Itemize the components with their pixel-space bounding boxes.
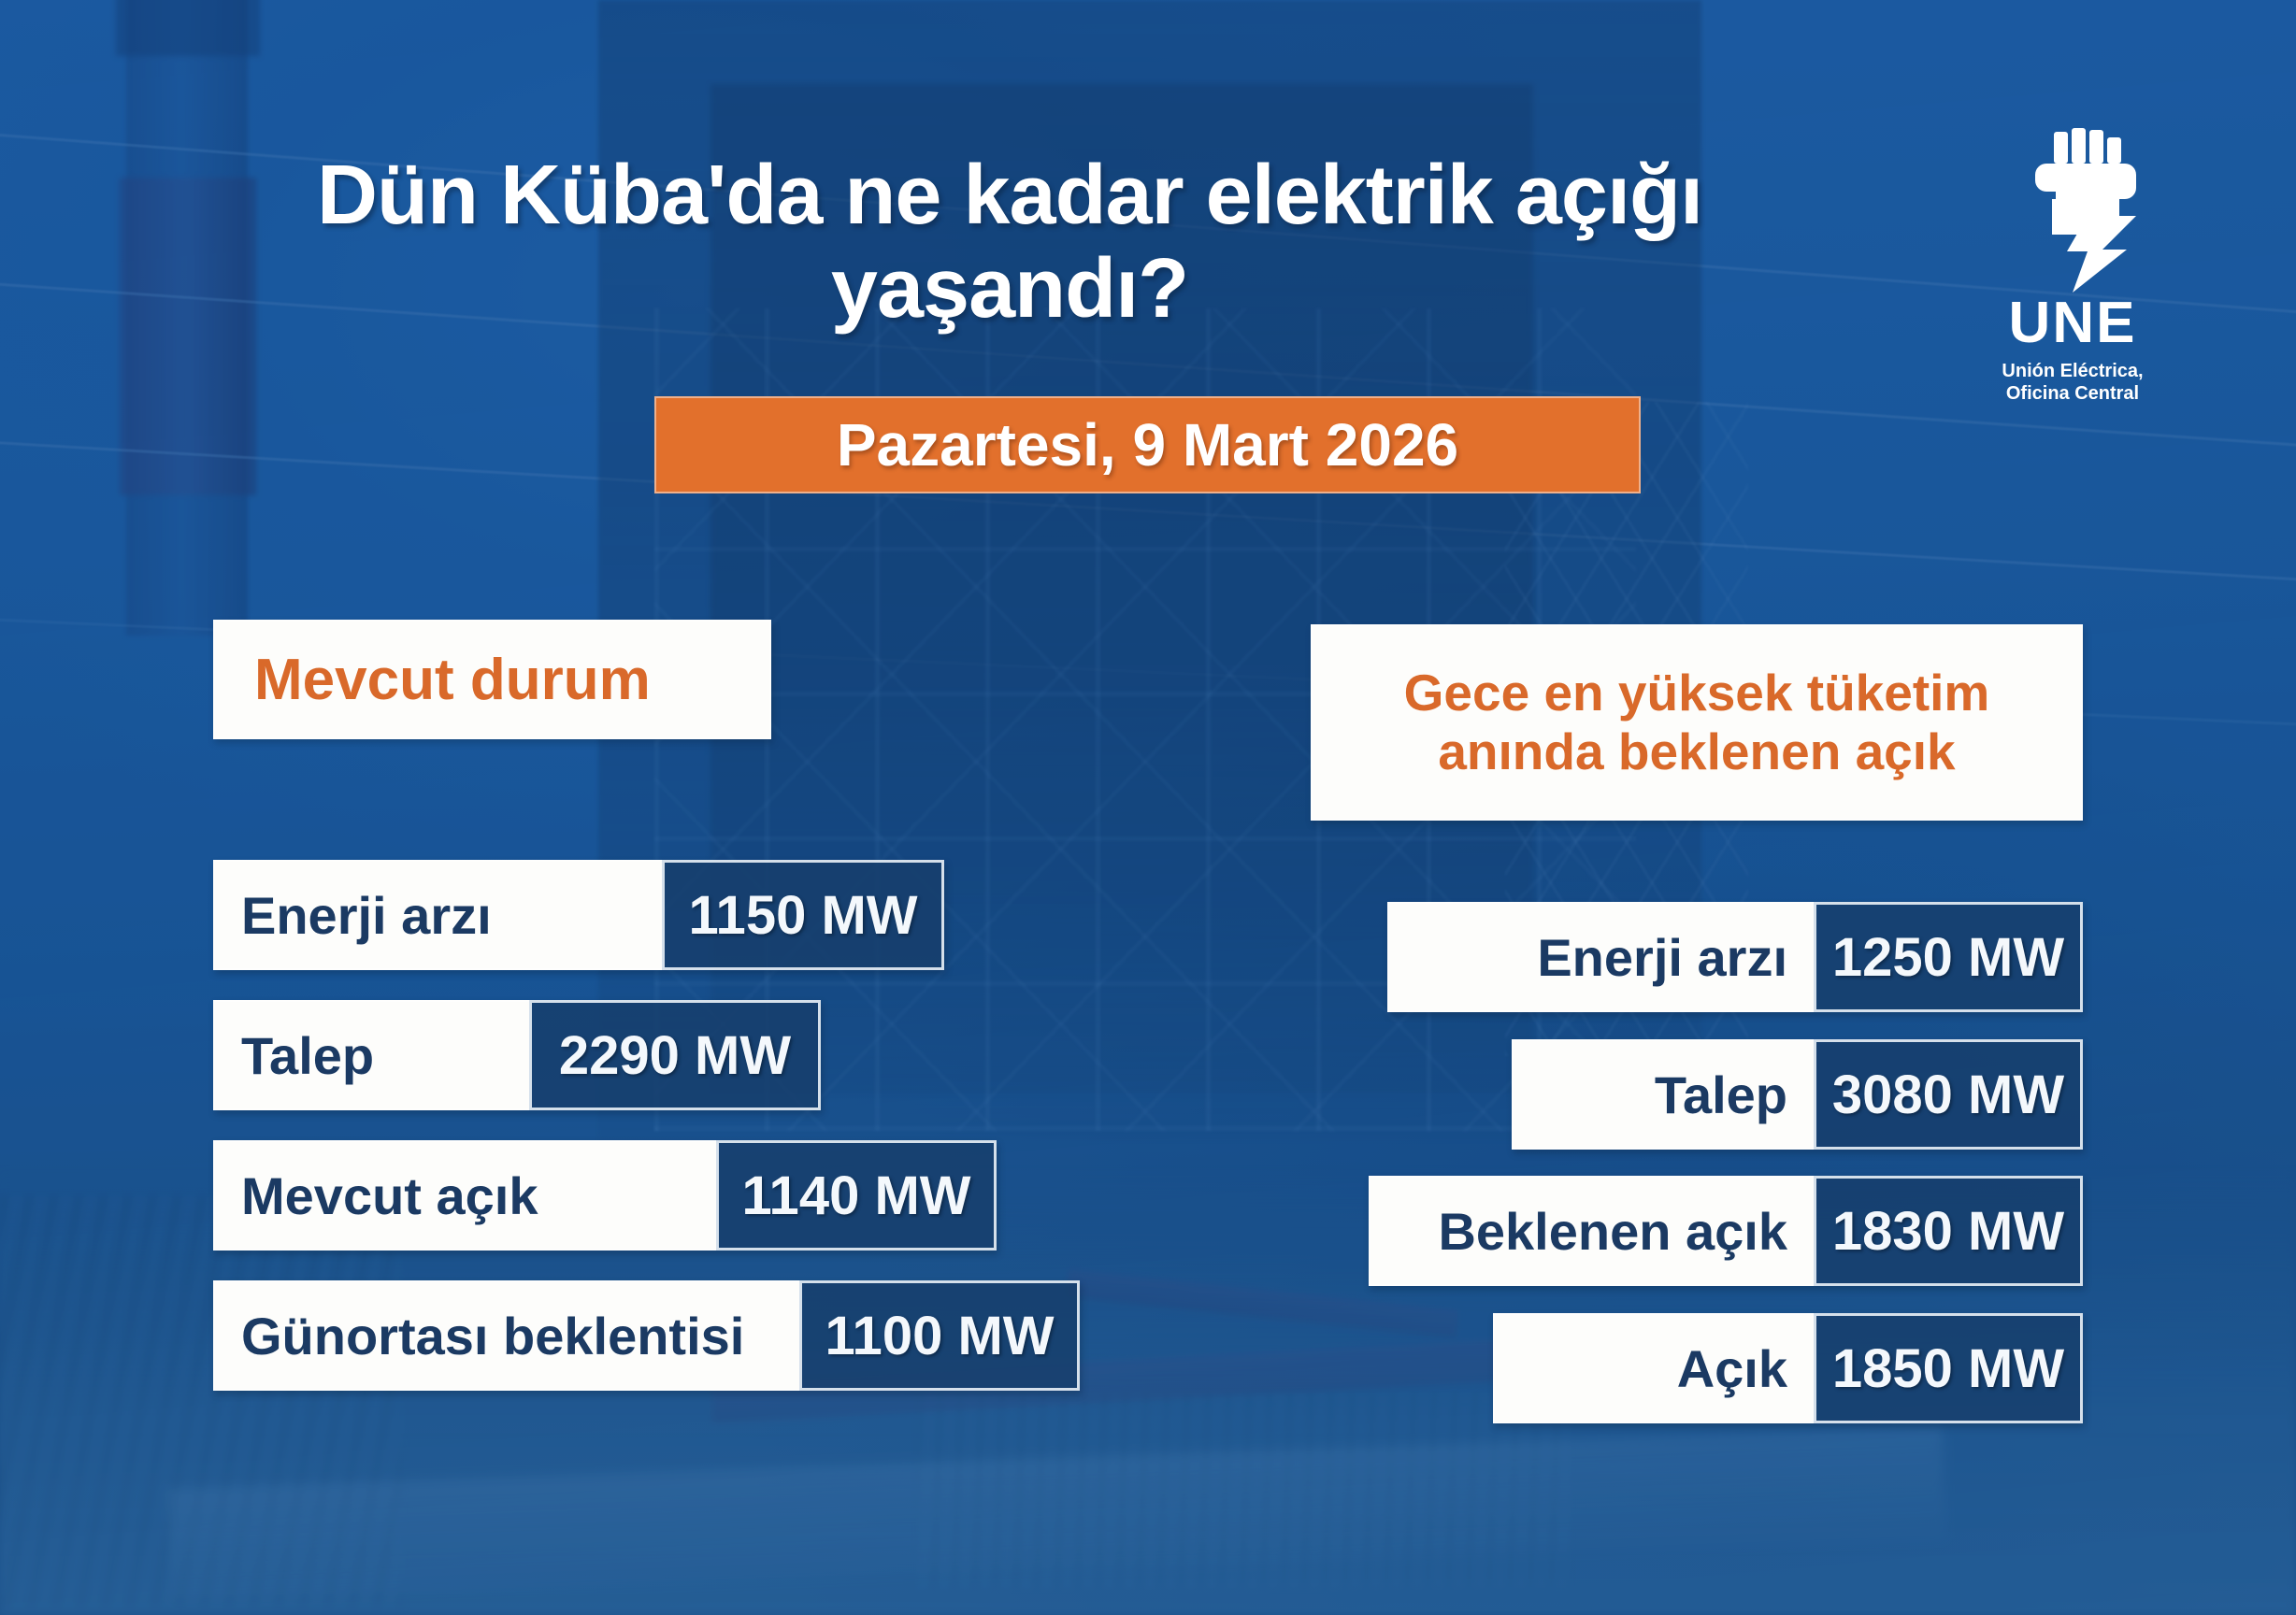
date-banner: Pazartesi, 9 Mart 2026	[654, 396, 1641, 493]
table-row: Beklenen açık 1830 MW	[1369, 1176, 2083, 1286]
panel-heading-right-line1: Gece en yüksek tüketim	[1404, 664, 1990, 722]
row-value: 2290 MW	[529, 1000, 821, 1110]
infographic-canvas: Dün Küba'da ne kadar elektrik açığı yaşa…	[0, 0, 2296, 1615]
panel-heading-night-peak-deficit: Gece en yüksek tüketim anında beklenen a…	[1311, 624, 2083, 821]
row-value: 1250 MW	[1814, 902, 2083, 1012]
une-logo: UNE Unión Eléctrica, Oficina Central	[1956, 126, 2189, 405]
row-label: Mevcut açık	[213, 1140, 716, 1251]
row-value: 1100 MW	[799, 1280, 1080, 1391]
page-title: Dün Küba'da ne kadar elektrik açığı yaşa…	[280, 150, 1739, 336]
panel-heading-right-block: Gece en yüksek tüketim anında beklenen a…	[1404, 664, 1990, 780]
row-label: Talep	[213, 1000, 529, 1110]
fist-lightning-icon	[1956, 126, 2189, 293]
row-value: 3080 MW	[1814, 1039, 2083, 1150]
table-row: Açık 1850 MW	[1493, 1313, 2083, 1423]
table-row: Talep 2290 MW	[213, 1000, 821, 1110]
row-label: Günortası beklentisi	[213, 1280, 799, 1391]
row-value: 1850 MW	[1814, 1313, 2083, 1423]
row-value: 1830 MW	[1814, 1176, 2083, 1286]
row-label: Beklenen açık	[1369, 1176, 1814, 1286]
date-text: Pazartesi, 9 Mart 2026	[837, 410, 1458, 479]
table-row: Enerji arzı 1250 MW	[1387, 902, 2083, 1012]
content-layer: Dün Küba'da ne kadar elektrik açığı yaşa…	[0, 0, 2296, 1615]
table-row: Mevcut açık 1140 MW	[213, 1140, 997, 1251]
table-row: Talep 3080 MW	[1512, 1039, 2083, 1150]
panel-heading-current-status: Mevcut durum	[213, 620, 771, 739]
row-value: 1150 MW	[662, 860, 944, 970]
row-label: Enerji arzı	[213, 860, 662, 970]
logo-acronym: UNE	[1956, 294, 2189, 352]
table-row: Enerji arzı 1150 MW	[213, 860, 944, 970]
logo-subtitle: Unión Eléctrica, Oficina Central	[1956, 360, 2189, 405]
table-row: Günortası beklentisi 1100 MW	[213, 1280, 1080, 1391]
logo-subtitle-line2: Oficina Central	[1956, 382, 2189, 405]
panel-heading-left-text: Mevcut durum	[254, 647, 651, 713]
panel-heading-right-line2: anında beklenen açık	[1404, 722, 1990, 781]
row-label: Talep	[1512, 1039, 1814, 1150]
row-label: Açık	[1493, 1313, 1814, 1423]
logo-subtitle-line1: Unión Eléctrica,	[1956, 360, 2189, 382]
row-value: 1140 MW	[716, 1140, 997, 1251]
row-label: Enerji arzı	[1387, 902, 1814, 1012]
